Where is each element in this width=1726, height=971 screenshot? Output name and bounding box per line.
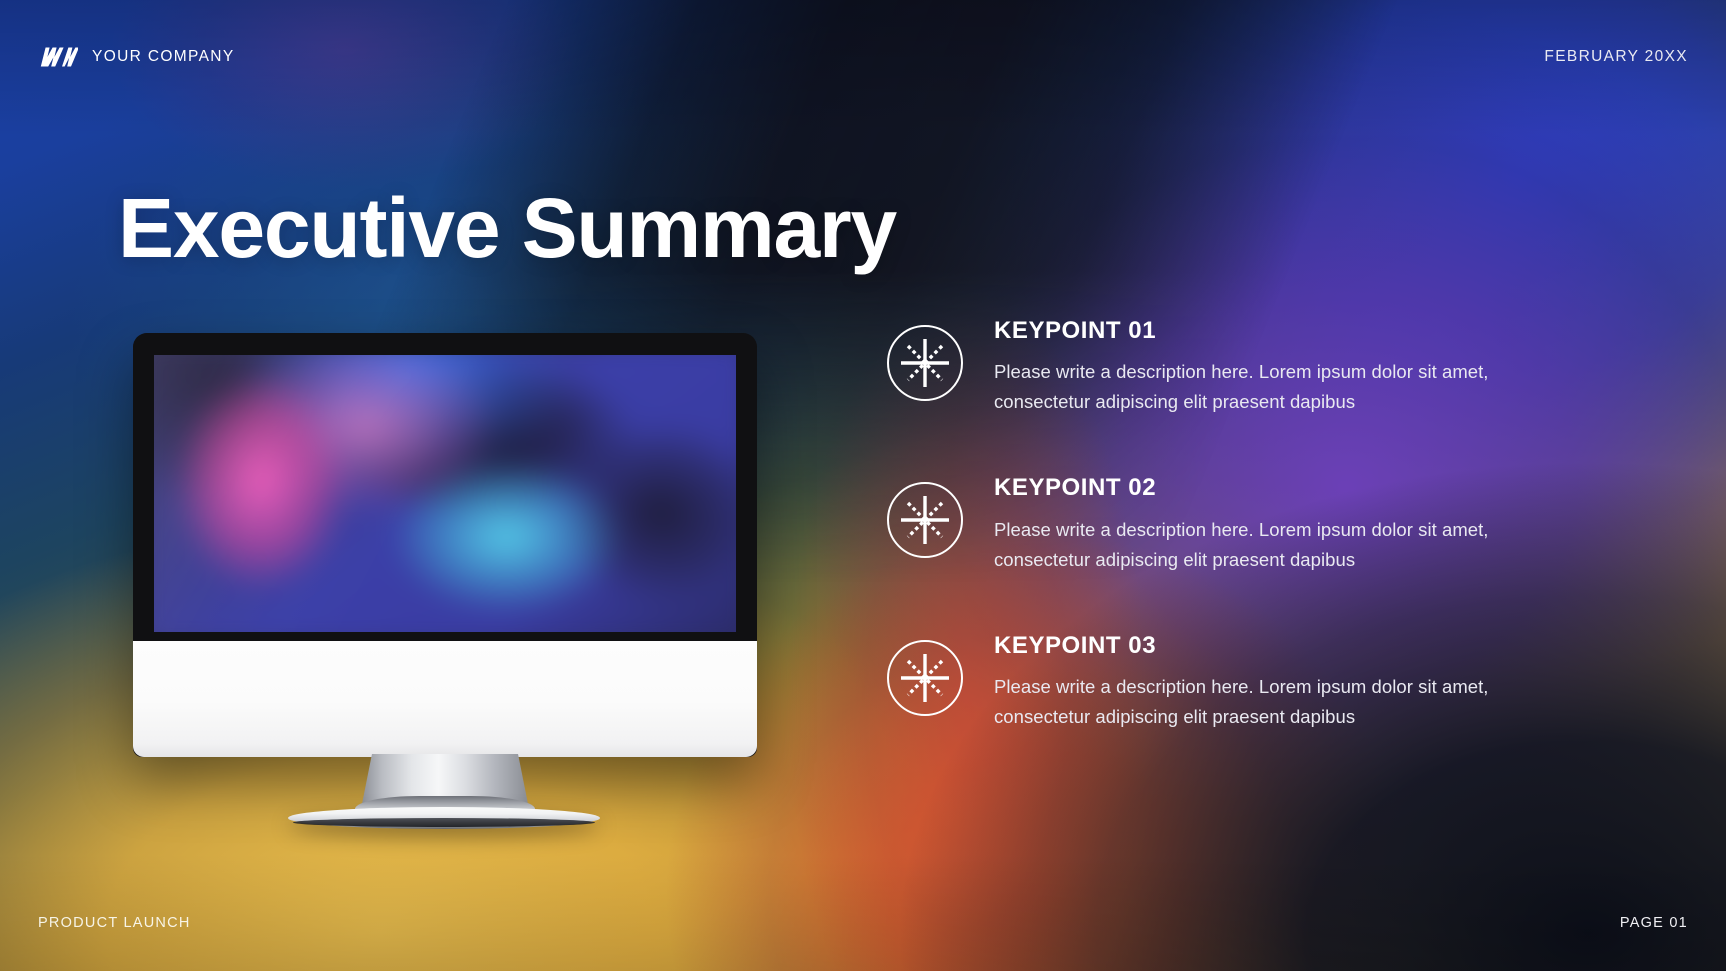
keypoint-text-01: KEYPOINT 01 Please write a description h… — [994, 318, 1506, 417]
footer-page-label: PAGE 01 — [1620, 915, 1688, 931]
keypoint-text-03: KEYPOINT 03 Please write a description h… — [994, 633, 1506, 732]
monitor-stand-base-edge — [293, 818, 595, 827]
keypoint-description: Please write a description here. Lorem i… — [994, 515, 1506, 575]
keypoint-title: KEYPOINT 02 — [994, 475, 1506, 501]
keypoint-item-02: KEYPOINT 02 Please write a description h… — [886, 475, 1506, 574]
footer-project-label: PRODUCT LAUNCH — [38, 915, 191, 931]
starburst-asterisk-icon — [886, 481, 964, 559]
starburst-asterisk-icon — [886, 639, 964, 717]
keypoint-item-01: KEYPOINT 01 Please write a description h… — [886, 318, 1506, 417]
page-title: Executive Summary — [118, 184, 896, 273]
abstract-gradient-wallpaper-icon — [154, 355, 736, 632]
keypoint-title: KEYPOINT 03 — [994, 633, 1506, 659]
monitor-screen — [154, 355, 736, 632]
brand-lockup: YOUR COMPANY — [38, 45, 235, 69]
desktop-monitor-mockup — [133, 333, 757, 822]
monitor-chin — [133, 641, 757, 757]
slide-date: FEBRUARY 20XX — [1544, 48, 1688, 66]
keypoint-text-02: KEYPOINT 02 Please write a description h… — [994, 475, 1506, 574]
keypoints-list: KEYPOINT 01 Please write a description h… — [886, 318, 1506, 732]
keypoint-title: KEYPOINT 01 — [994, 318, 1506, 344]
presentation-slide: YOUR COMPANY FEBRUARY 20XX Executive Sum… — [0, 0, 1726, 971]
zigzag-m-logo-icon — [38, 45, 78, 69]
company-name: YOUR COMPANY — [92, 48, 235, 66]
monitor-body — [133, 333, 757, 757]
keypoint-item-03: KEYPOINT 03 Please write a description h… — [886, 633, 1506, 732]
slide-header: YOUR COMPANY FEBRUARY 20XX — [38, 40, 1688, 74]
starburst-asterisk-icon — [886, 324, 964, 402]
keypoint-description: Please write a description here. Lorem i… — [994, 357, 1506, 417]
keypoint-description: Please write a description here. Lorem i… — [994, 672, 1506, 732]
